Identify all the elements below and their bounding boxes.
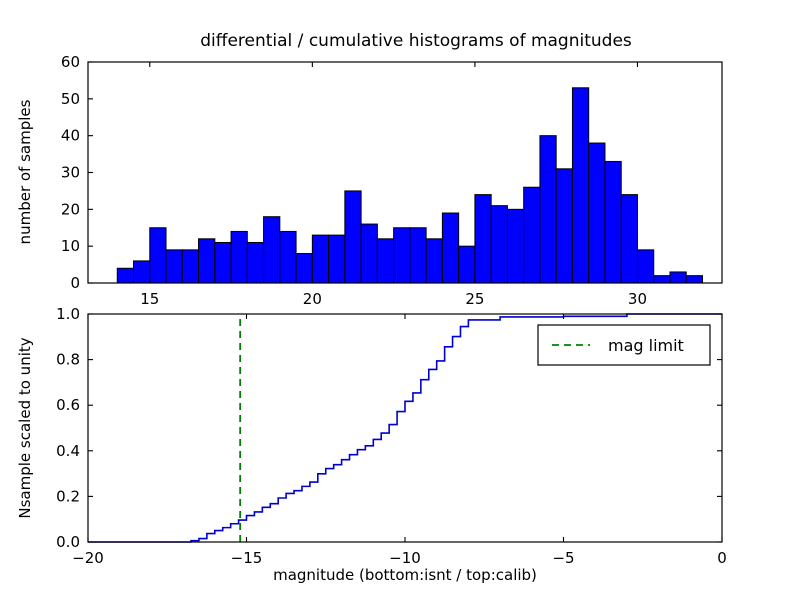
x-tick-label: 20 [303, 290, 322, 308]
histogram-bar [394, 228, 410, 283]
histogram-bar [605, 161, 621, 283]
histogram-bar [507, 209, 523, 283]
histogram-bar [524, 187, 540, 283]
bottom-panel-y-axis-label: Nsample scaled to unity [16, 337, 34, 518]
histogram-bar [280, 231, 296, 283]
x-tick-label: −15 [231, 549, 263, 567]
y-tick-label: 0 [70, 274, 80, 292]
matplotlib-figure: differential / cumulative histograms of … [0, 0, 800, 600]
histogram-bar [296, 254, 312, 283]
x-tick-label: 25 [465, 290, 484, 308]
histogram-bar [556, 169, 572, 283]
histogram-bar [345, 191, 361, 283]
histogram-bar [312, 235, 328, 283]
figure-title: differential / cumulative histograms of … [200, 31, 632, 51]
x-tick-label: 0 [717, 549, 727, 567]
y-tick-label: 1.0 [56, 305, 80, 323]
histogram-bar [166, 250, 182, 283]
y-tick-label: 50 [61, 90, 80, 108]
histogram-bar [264, 217, 280, 283]
histogram-bar [475, 195, 491, 283]
y-tick-label: 40 [61, 127, 80, 145]
histogram-bar [377, 239, 393, 283]
histogram-bars [117, 88, 702, 283]
histogram-bar [540, 136, 556, 283]
x-tick-label: −20 [72, 549, 104, 567]
histogram-bar [231, 231, 247, 283]
top-panel-y-axis-label: number of samples [16, 99, 34, 244]
y-tick-label: 0.4 [56, 442, 80, 460]
histogram-bar [182, 250, 198, 283]
histogram-bar [621, 195, 637, 283]
bottom-panel-cumulative-histogram: 0.00.20.40.60.81.0 −20−15−10−50 Nsample … [16, 305, 727, 584]
histogram-bar [199, 239, 215, 283]
histogram-bar [442, 213, 458, 283]
bottom-panel-x-axis-label: magnitude (bottom:isnt / top:calib) [273, 566, 537, 584]
y-tick-label: 0.6 [56, 396, 80, 414]
y-tick-label: 60 [61, 53, 80, 71]
histogram-bar [686, 276, 702, 283]
histogram-bar [215, 242, 231, 283]
histogram-bar [637, 250, 653, 283]
histogram-bar [670, 272, 686, 283]
histogram-bar [491, 206, 507, 283]
y-tick-label: 20 [61, 200, 80, 218]
y-tick-label: 0.8 [56, 351, 80, 369]
top-panel-differential-histogram: differential / cumulative histograms of … [16, 31, 722, 308]
histogram-bar [654, 276, 670, 283]
x-tick-label: 30 [628, 290, 647, 308]
legend-label-mag-limit: mag limit [608, 336, 684, 355]
histogram-bar [426, 239, 442, 283]
figure-canvas: differential / cumulative histograms of … [0, 0, 800, 600]
y-tick-label: 30 [61, 164, 80, 182]
histogram-bar [134, 261, 150, 283]
histogram-bar [459, 246, 475, 283]
histogram-bar [150, 228, 166, 283]
x-tick-label: −10 [389, 549, 421, 567]
y-tick-label: 10 [61, 237, 80, 255]
histogram-bar [117, 268, 133, 283]
histogram-bar [361, 224, 377, 283]
legend[interactable]: mag limit [538, 325, 710, 365]
histogram-bar [572, 88, 588, 283]
histogram-bar [247, 242, 263, 283]
histogram-bar [329, 235, 345, 283]
histogram-bar [589, 143, 605, 283]
x-tick-label: 15 [140, 290, 159, 308]
y-tick-label: 0.2 [56, 487, 80, 505]
x-tick-label: −5 [552, 549, 574, 567]
histogram-bar [410, 228, 426, 283]
